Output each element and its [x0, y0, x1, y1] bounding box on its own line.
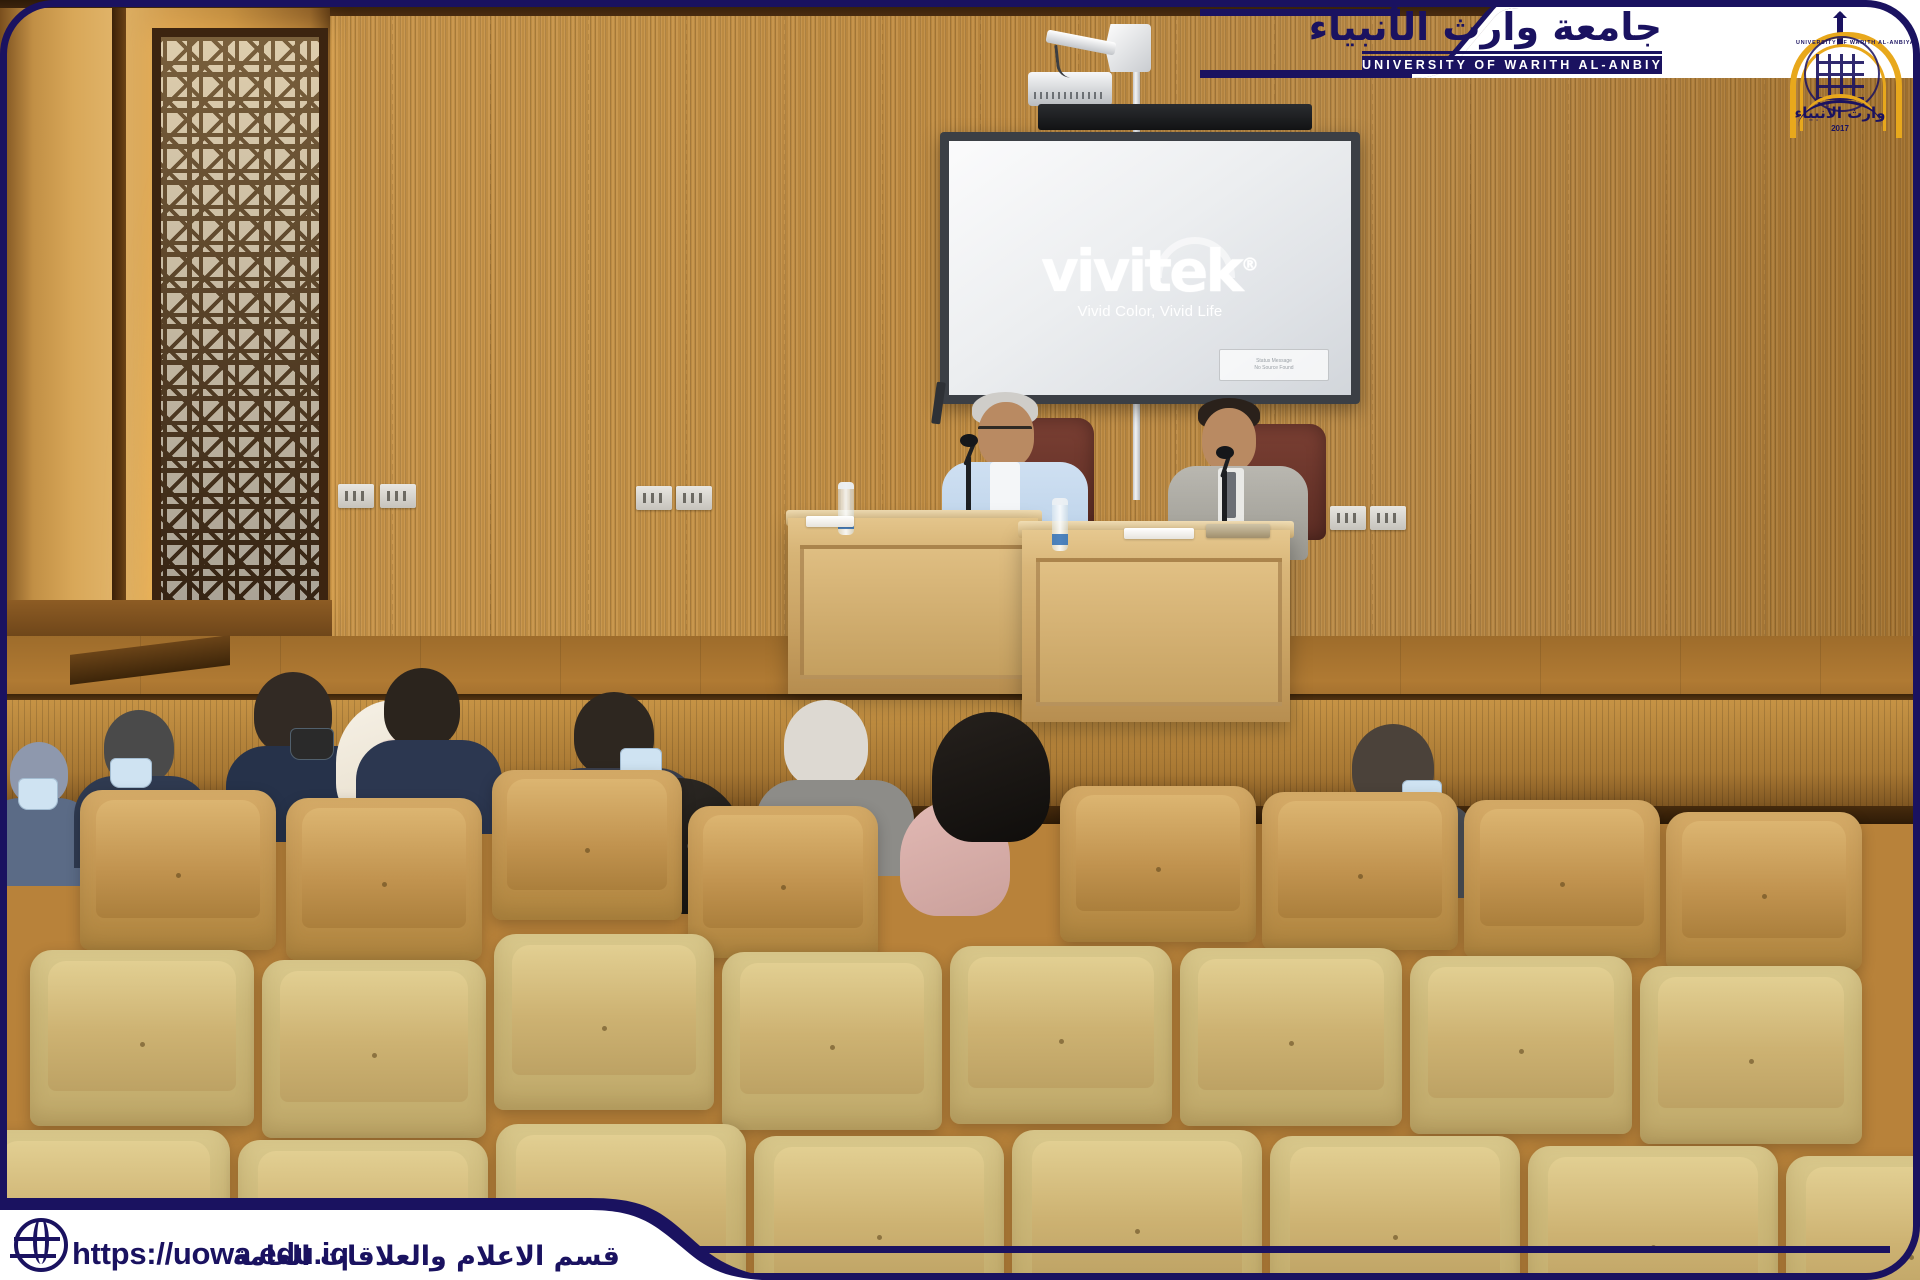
seat-stud	[372, 1053, 377, 1058]
seat-back	[703, 815, 863, 927]
university-name-arabic: جامعة وارث الأنبياء	[1362, 6, 1662, 49]
alcove-edge-trim	[112, 8, 126, 648]
auditorium-seat	[30, 950, 254, 1126]
event-photo-card: vivitek® Vivid Color, Vivid Life Status …	[0, 0, 1920, 1280]
wordmark-rule	[1362, 51, 1662, 54]
seat-back	[1198, 959, 1384, 1091]
vivitek-tagline: Vivid Color, Vivid Life	[949, 303, 1351, 320]
auditorium-photo: vivitek® Vivid Color, Vivid Life Status …	[0, 0, 1920, 1280]
auditorium-seat	[286, 798, 482, 960]
wall-socket	[676, 486, 712, 510]
seat-back	[507, 779, 667, 890]
auditorium-seat	[1180, 948, 1402, 1126]
interactive-whiteboard: vivitek® Vivid Color, Vivid Life Status …	[940, 132, 1360, 404]
auditorium-seat	[1666, 812, 1862, 970]
status-message-value: No Source Found	[1254, 365, 1293, 373]
microphone-head	[960, 434, 978, 447]
seat-back	[1278, 801, 1443, 918]
wall-socket	[636, 486, 672, 510]
seat-back	[48, 961, 236, 1091]
face-mask	[290, 728, 334, 760]
auditorium-seat	[262, 960, 486, 1138]
seat-back	[280, 971, 468, 1103]
seat-back	[96, 800, 261, 918]
university-wordmark: جامعة وارث الأنبياء UNIVERSITY OF WARITH…	[1362, 6, 1662, 74]
seat-stud	[1519, 1049, 1524, 1054]
seat-back	[740, 963, 925, 1095]
abaya-hijab	[932, 712, 1050, 842]
globe-icon	[14, 1218, 68, 1272]
auditorium-seat	[80, 790, 276, 950]
seat-stud	[1289, 1041, 1294, 1046]
vivitek-brand-text: vivitek	[1041, 237, 1241, 305]
university-crest-logo: UNIVERSITY OF WARITH AL-ANBIYAA وارث الأ…	[1782, 10, 1898, 138]
registered-mark: ®	[1241, 255, 1259, 276]
speaker-left-eyeglasses	[978, 426, 1032, 440]
water-bottle	[1052, 498, 1068, 551]
seat-stud	[585, 848, 590, 853]
auditorium-seat	[492, 770, 682, 920]
seat-stud	[140, 1042, 145, 1047]
status-message-box: Status Message No Source Found	[1219, 349, 1329, 381]
mashrabiya-lattice-panel	[152, 28, 328, 616]
speaker-right-head	[1202, 408, 1256, 472]
wall-socket	[380, 484, 416, 508]
auditorium-seat	[688, 806, 878, 958]
university-name-english: UNIVERSITY OF WARITH AL-ANBIYAA	[1362, 56, 1662, 74]
seat-back	[968, 957, 1154, 1089]
papers	[1124, 528, 1194, 539]
attendee-head	[384, 668, 460, 748]
attendee-head	[784, 700, 868, 788]
auditorium-seat	[1410, 956, 1632, 1134]
wall-socket	[1330, 506, 1366, 530]
header-banner: جامعة وارث الأنبياء UNIVERSITY OF WARITH…	[1200, 0, 1920, 146]
auditorium-seat	[1262, 792, 1458, 950]
whiteboard-surface: vivitek® Vivid Color, Vivid Life Status …	[949, 141, 1351, 395]
notebook	[1206, 524, 1270, 538]
auditorium-seat	[1060, 786, 1256, 942]
presidium-table-left-panel	[800, 545, 1030, 679]
face-mask	[18, 778, 58, 810]
seat-stud	[781, 885, 786, 890]
footer-bar: https://uowa.edu.iq قسم الاعلام والعلاقا…	[0, 1152, 1920, 1280]
vivitek-wordmark: vivitek®	[949, 237, 1351, 305]
department-name-arabic: قسم الاعلام والعلاقات العامة	[330, 1241, 620, 1272]
auditorium-seat	[494, 934, 714, 1110]
seat-back	[1480, 809, 1645, 926]
seat-back	[512, 945, 697, 1075]
seat-stud	[1749, 1059, 1754, 1064]
water-bottle	[838, 482, 854, 535]
speaker-right-tie	[1226, 472, 1236, 518]
crest-micro-text: UNIVERSITY OF WARITH AL-ANBIYAA	[1796, 40, 1884, 46]
seat-back	[1428, 967, 1614, 1099]
auditorium-seat	[1464, 800, 1660, 958]
auditorium-seat	[950, 946, 1172, 1124]
crest-arabic-text: وارث الأنبياء	[1782, 106, 1898, 121]
seat-stud	[830, 1045, 835, 1050]
presidium-table-right-panel	[1036, 558, 1282, 706]
seat-back	[302, 808, 467, 928]
seat-back	[1682, 821, 1847, 938]
papers	[806, 516, 854, 527]
seat-back	[1658, 977, 1844, 1109]
wall-socket	[1370, 506, 1406, 530]
seat-stud	[1059, 1039, 1064, 1044]
seat-stud	[602, 1026, 607, 1031]
wall-socket	[338, 484, 374, 508]
status-message-title: Status Message	[1256, 358, 1292, 366]
face-mask	[110, 758, 152, 788]
microphone-head	[1216, 446, 1234, 459]
auditorium-seat	[1640, 966, 1862, 1144]
auditorium-seat	[722, 952, 942, 1130]
seat-back	[1076, 795, 1241, 910]
globe-icon-latitude	[10, 1254, 56, 1258]
crest-founding-year: 2017	[1782, 124, 1898, 133]
